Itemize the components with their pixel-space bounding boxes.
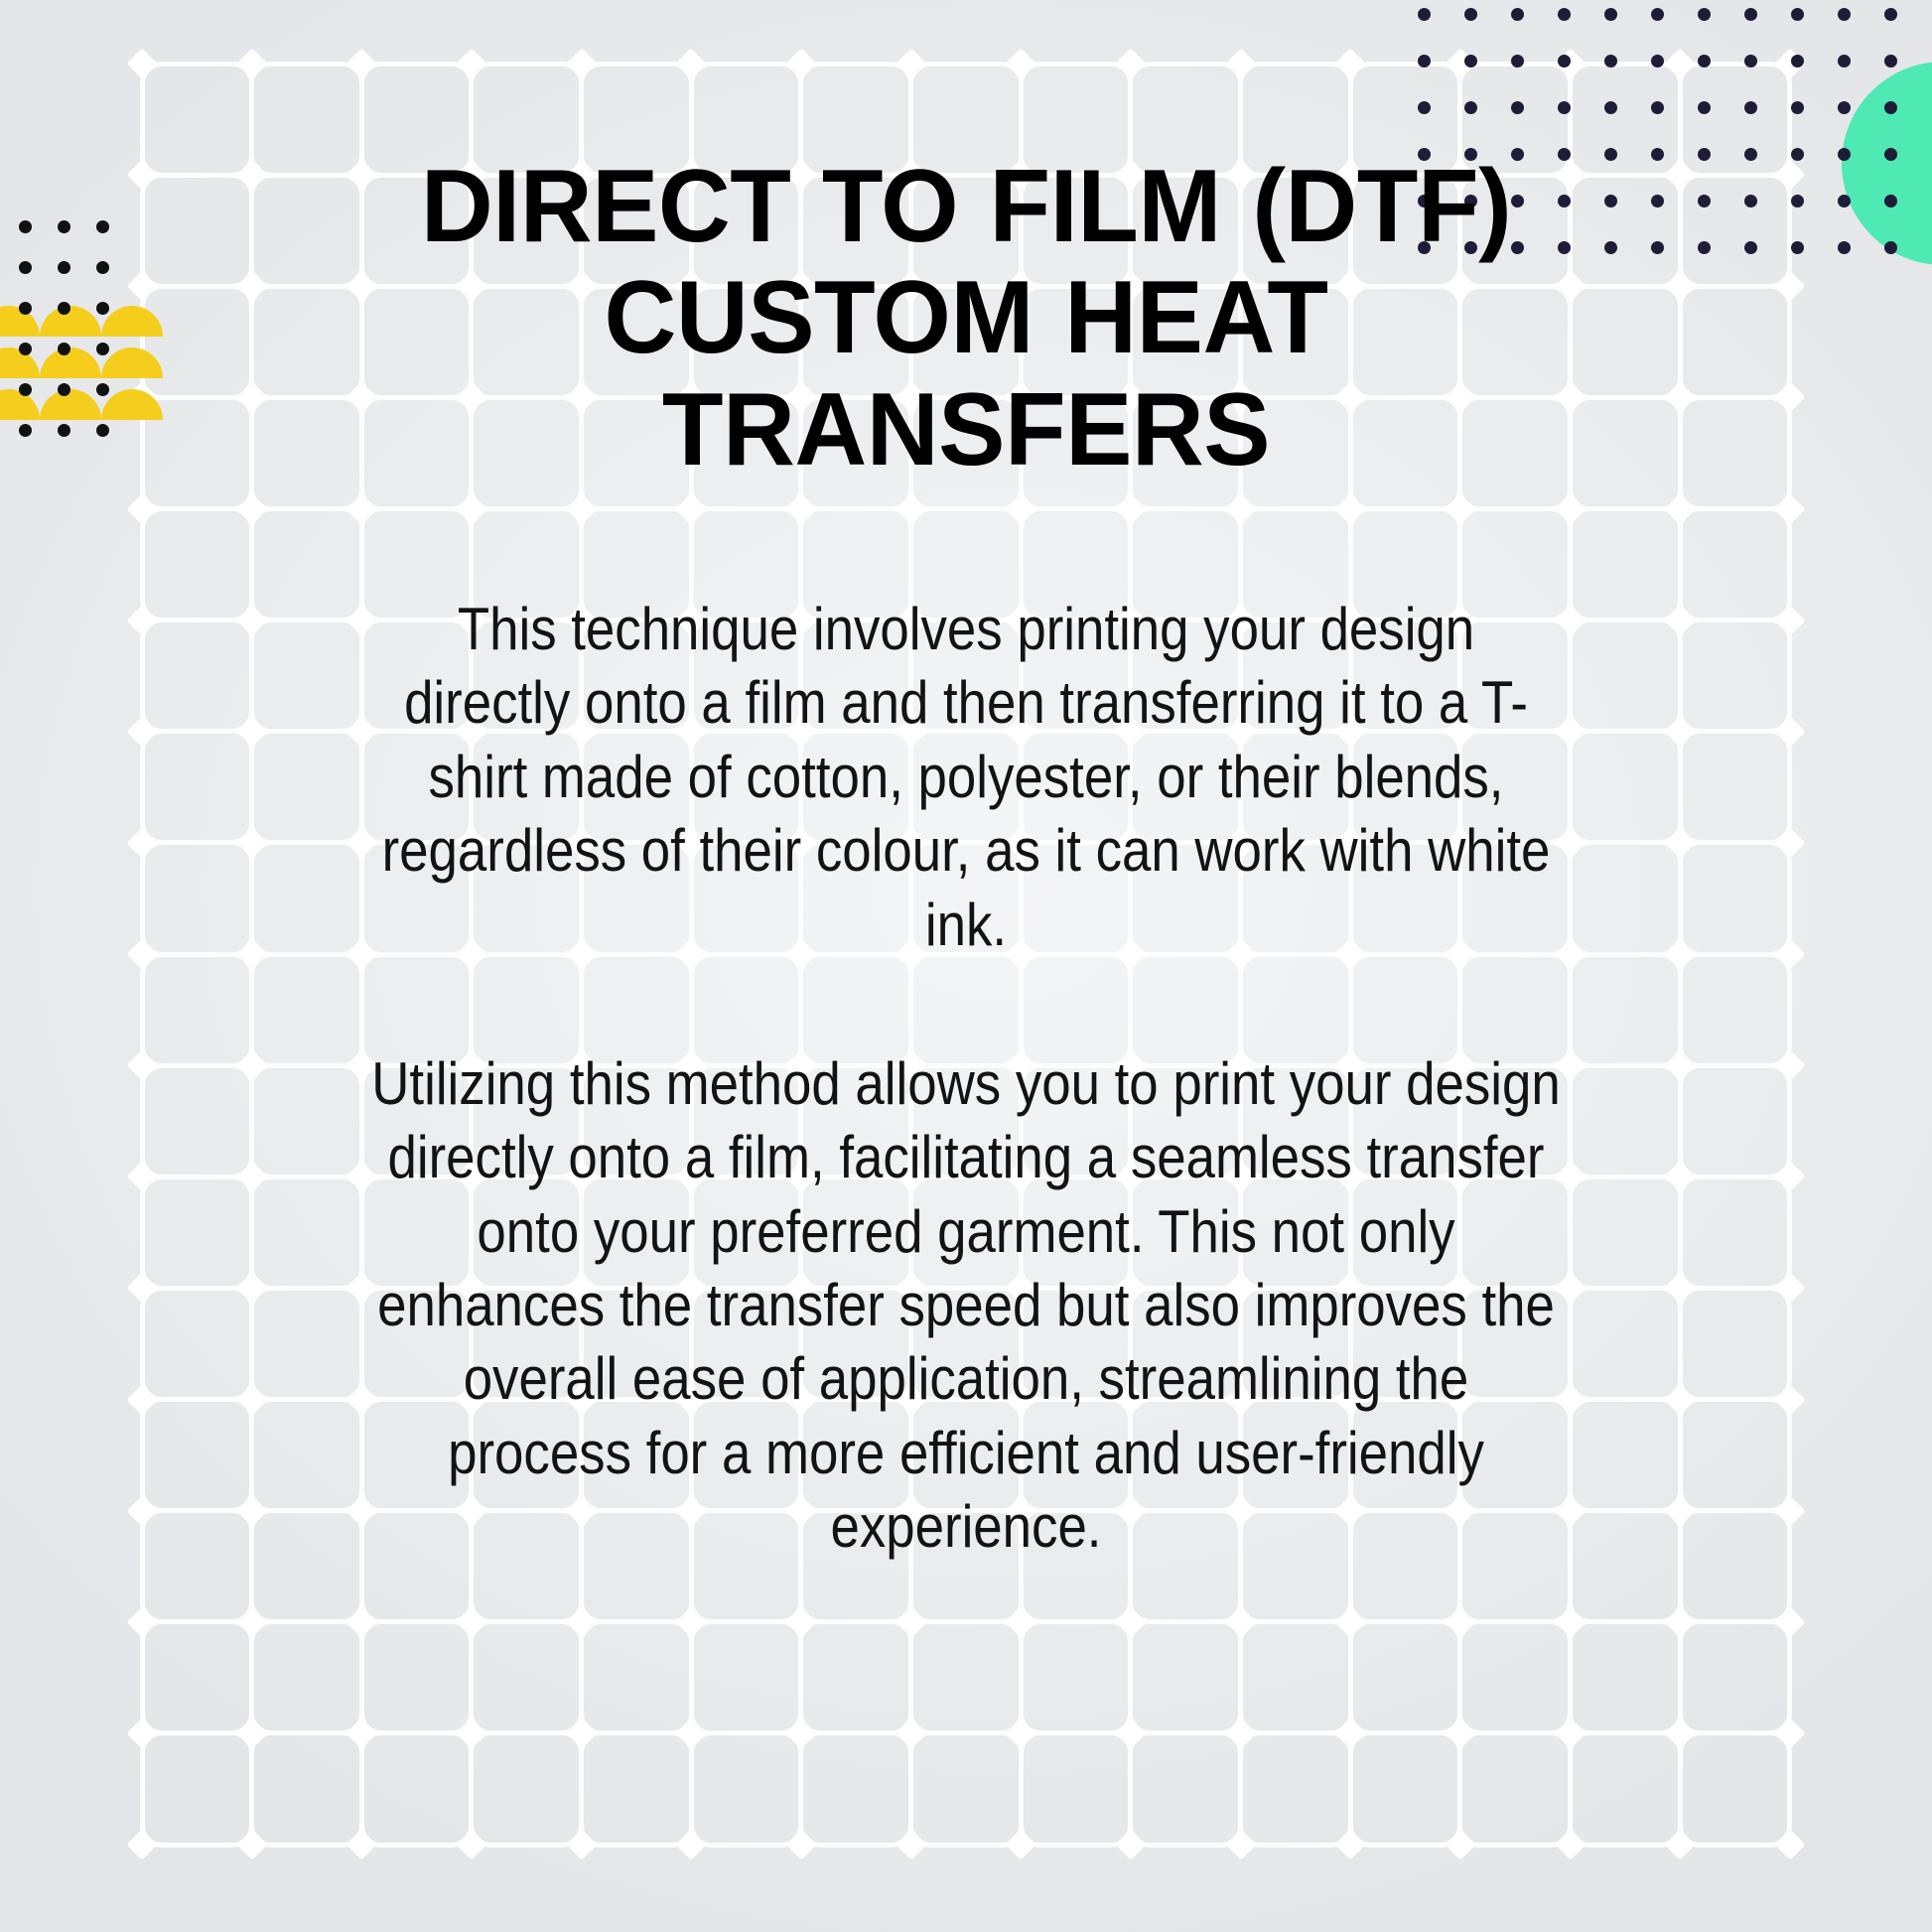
paragraph-2: Utilizing this method allows you to prin… [367,1047,1565,1565]
poster-content: DIRECT TO FILM (DTF) CUSTOM HEAT TRANSFE… [0,0,1932,1932]
paragraph-1: This technique involves printing your de… [367,593,1565,962]
page-title: DIRECT TO FILM (DTF) CUSTOM HEAT TRANSFE… [292,0,1640,485]
poster-canvas: DIRECT TO FILM (DTF) CUSTOM HEAT TRANSFE… [0,0,1932,1932]
title-line-2: CUSTOM HEAT TRANSFERS [604,260,1327,486]
title-line-1: DIRECT TO FILM (DTF) [421,149,1511,264]
body-copy: This technique involves printing your de… [367,593,1565,1565]
